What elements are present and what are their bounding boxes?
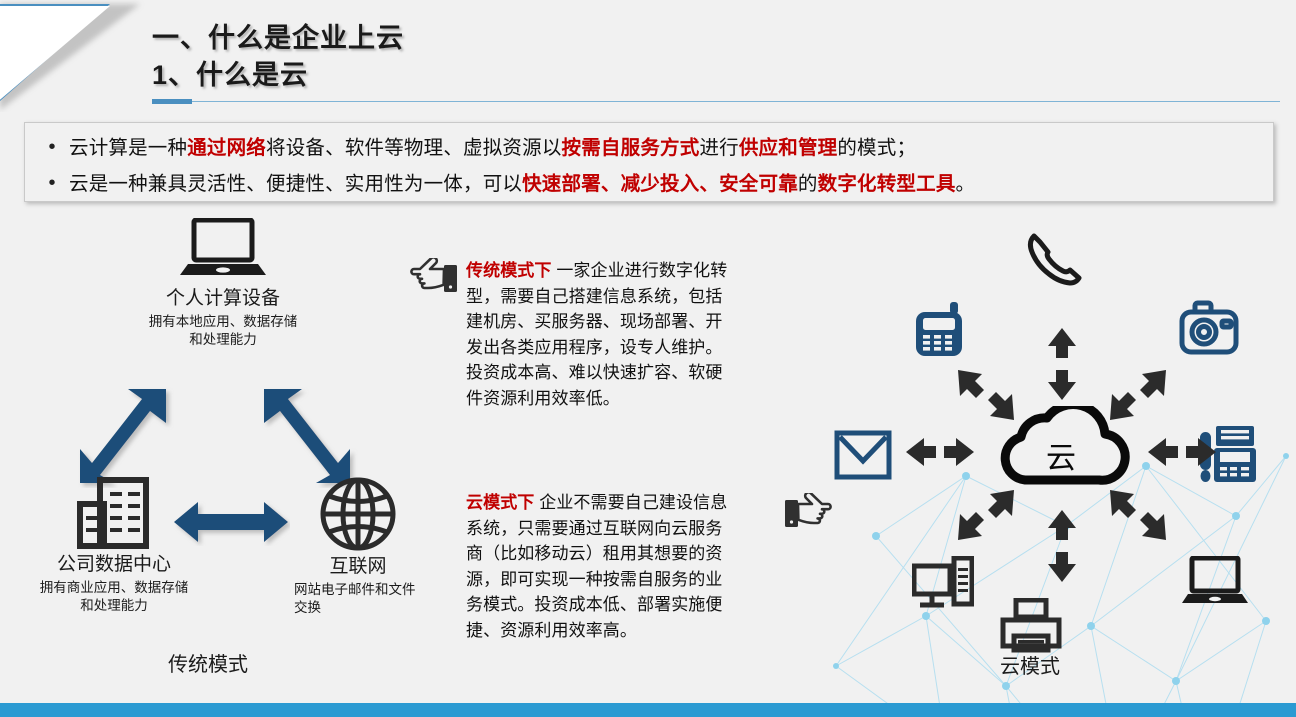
node-sublabel: 网站电子邮件和文件交换 bbox=[288, 581, 428, 617]
plain-phrase: 的模式； bbox=[837, 137, 916, 159]
node-personal-device: 个人计算设备 拥有本地应用、数据存储和处理能力 bbox=[118, 218, 328, 349]
plain-phrase: 云计算是一种 bbox=[69, 137, 187, 159]
hand-point-right-icon bbox=[782, 493, 832, 535]
plain-phrase: 的 bbox=[798, 173, 818, 195]
title-underline bbox=[152, 99, 1280, 102]
cloud-mode-label: 云模式 bbox=[1000, 650, 1060, 679]
arrow-pair-up bbox=[1044, 328, 1080, 400]
plain-phrase: 云是一种兼具灵活性、便捷性、实用性为一体，可以 bbox=[69, 173, 522, 195]
node-internet: 互联网 网站电子邮件和文件交换 bbox=[268, 476, 448, 617]
hand-point-left-icon bbox=[410, 258, 460, 300]
arrow-double-diagonal-right bbox=[250, 383, 360, 488]
plain-phrase: 进行 bbox=[699, 137, 738, 159]
paragraph-body: 一家企业进行数字化转型，需要自己搭建信息系统，包括建机房、买服务器、现场部署、开… bbox=[466, 261, 727, 408]
highlighted-phrase: 供应和管理 bbox=[739, 137, 838, 159]
highlighted-phrase: 按需自服务方式 bbox=[562, 137, 700, 159]
laptop-icon bbox=[1182, 556, 1248, 610]
office-building-icon bbox=[74, 476, 154, 550]
bullet-item: • 云是一种兼具灵活性、便捷性、实用性为一体，可以快速部署、减少投入、安全可靠的… bbox=[35, 167, 1267, 203]
printer-icon bbox=[1000, 598, 1062, 656]
globe-icon bbox=[319, 476, 397, 552]
paragraph-lead: 传统模式下 bbox=[466, 261, 552, 280]
arrow-pair-up bbox=[1044, 510, 1080, 582]
paragraph-traditional-mode: 传统模式下 一家企业进行数字化转型，需要自己搭建信息系统，包括建机房、买服务器、… bbox=[466, 258, 734, 411]
bullet-marker: • bbox=[35, 167, 69, 199]
arrow-pair-diagonal-downright bbox=[1110, 490, 1166, 540]
node-label: 互联网 bbox=[268, 555, 448, 579]
bullet-item: • 云计算是一种通过网络将设备、软件等物理、虚拟资源以按需自服务方式进行供应和管… bbox=[35, 131, 1267, 167]
node-label: 公司数据中心 bbox=[14, 553, 214, 577]
node-label: 个人计算设备 bbox=[118, 287, 328, 311]
bullet-text-2: 云是一种兼具灵活性、便捷性、实用性为一体，可以快速部署、减少投入、安全可靠的数字… bbox=[69, 167, 975, 201]
title-underline-accent bbox=[152, 99, 192, 104]
paragraph-lead: 云模式下 bbox=[466, 493, 534, 512]
mobile-phone-icon bbox=[912, 302, 970, 360]
paragraph-cloud-mode: 云模式下 企业不需要自己建设信息系统，只需要通过互联网向云服务商（比如移动云）租… bbox=[466, 490, 734, 643]
paragraph-body: 企业不需要自己建设信息系统，只需要通过互联网向云服务商（比如移动云）租用其想要的… bbox=[466, 493, 727, 640]
bullet-text-1: 云计算是一种通过网络将设备、软件等物理、虚拟资源以按需自服务方式进行供应和管理的… bbox=[69, 131, 916, 165]
diagram-stage: 个人计算设备 拥有本地应用、数据存储和处理能力 公司数据中心 拥有 bbox=[0, 208, 1296, 688]
highlighted-phrase: 数字化转型工具 bbox=[818, 173, 956, 195]
laptop-icon bbox=[178, 218, 268, 284]
title-underline-rule bbox=[192, 101, 1280, 102]
highlighted-phrase: 快速部署、减少投入、安全可靠 bbox=[522, 173, 798, 195]
bullet-marker: • bbox=[35, 131, 69, 163]
arrow-pair-horizontal-left bbox=[906, 436, 974, 468]
envelope-icon bbox=[834, 430, 892, 480]
arrow-pair-diagonal-upright bbox=[1110, 370, 1166, 420]
title-line-1: 一、什么是企业上云 bbox=[152, 20, 404, 57]
node-sublabel: 拥有商业应用、数据存储和处理能力 bbox=[34, 579, 194, 615]
camera-icon bbox=[1178, 300, 1240, 356]
page-title: 一、什么是企业上云 1、什么是云 bbox=[152, 20, 404, 95]
definition-box: • 云计算是一种通过网络将设备、软件等物理、虚拟资源以按需自服务方式进行供应和管… bbox=[24, 122, 1274, 202]
title-line-2: 1、什么是云 bbox=[152, 57, 404, 94]
arrow-pair-diagonal-upleft bbox=[958, 370, 1014, 420]
cloud-center-label: 云 bbox=[1046, 442, 1076, 475]
plain-phrase: 。 bbox=[956, 173, 976, 195]
node-sublabel: 拥有本地应用、数据存储和处理能力 bbox=[148, 313, 298, 349]
desktop-computer-icon bbox=[912, 556, 974, 612]
plain-phrase: 将设备、软件等物理、虚拟资源以 bbox=[266, 137, 562, 159]
arrow-pair-diagonal-downleft bbox=[958, 490, 1014, 540]
arrow-double-diagonal-left bbox=[70, 383, 180, 488]
arrow-pair-horizontal-right bbox=[1148, 436, 1216, 468]
phone-handset-icon bbox=[1022, 230, 1084, 286]
corner-white-triangle bbox=[0, 6, 110, 110]
traditional-mode-label: 传统模式 bbox=[168, 648, 248, 677]
footer-bar bbox=[0, 703, 1296, 717]
highlighted-phrase: 通过网络 bbox=[187, 137, 266, 159]
